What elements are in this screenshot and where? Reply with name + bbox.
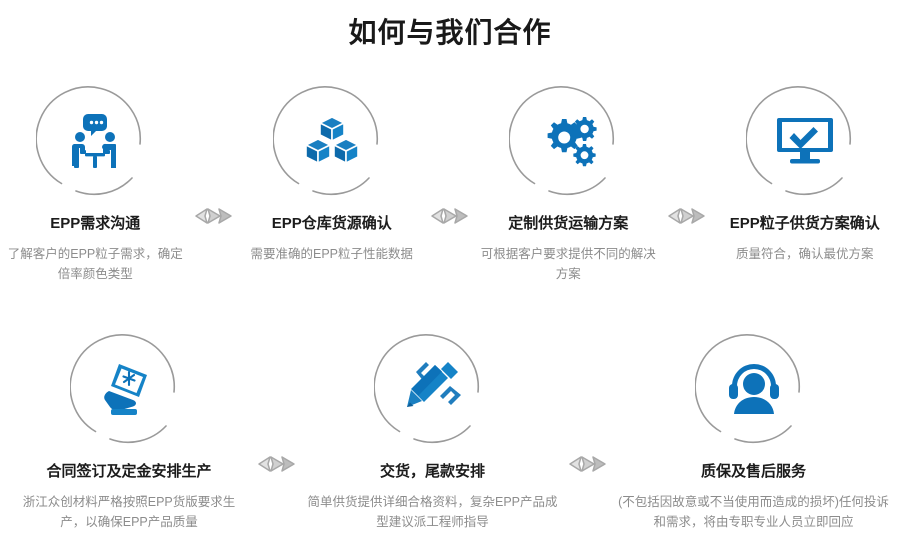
step-ring-7 [695,330,813,448]
headset-support-icon [723,358,785,420]
page-title: 如何与我们合作 [0,16,900,50]
steps-row-1: EPP需求沟通 了解客户的EPP粒子需求，确定倍率颜色类型 [0,82,900,284]
step-title: 合同签订及定金安排生产 [46,462,211,482]
step-ring-5 [70,330,188,448]
step-ring-1 [36,82,154,200]
step-description: 简单供货提供详细合格资料，复杂EPP产品成型建议派工程师指导 [308,492,558,532]
step-card-1[interactable]: EPP需求沟通 了解客户的EPP粒子需求，确定倍率颜色类型 [0,82,191,284]
step-description: 了解客户的EPP粒子需求，确定倍率颜色类型 [5,244,185,284]
meeting-discussion-icon [64,110,126,172]
stacked-boxes-icon [301,110,363,172]
step-card-3[interactable]: 定制供货运输方案 可根据客户要求提供不同的解决方案 [473,82,664,284]
step-description: 质量符合，确认最优方案 [710,244,900,264]
pen-ruler-icon [402,358,464,420]
step-card-2[interactable]: EPP仓库货源确认 需要准确的EPP粒子性能数据 [237,82,428,264]
step-ring-3 [509,82,627,200]
next-step-arrow [427,82,473,216]
step-card-5[interactable]: 合同签订及定金安排生产 浙江众创材料严格按照EPP货版要求生产，以确保EPP产品… [4,330,254,532]
step-ring-6 [374,330,492,448]
step-title: 定制供货运输方案 [508,214,628,234]
step-ring-2 [273,82,391,200]
step-description: (不包括因故意或不当使用而造成的损坏)任何投诉和需求，将由专职专业人员立即回应 [615,492,893,532]
step-ring-4 [746,82,864,200]
step-title: 质保及售后服务 [701,462,806,482]
step-description: 需要准确的EPP粒子性能数据 [237,244,427,264]
step-card-6[interactable]: 交货，尾款安排 简单供货提供详细合格资料，复杂EPP产品成型建议派工程师指导 [300,330,565,532]
next-step-arrow [191,82,237,216]
step-title: EPP仓库货源确认 [272,214,392,234]
next-step-arrow [565,330,611,464]
contract-signing-icon [98,358,160,420]
next-step-arrow [664,82,710,216]
step-card-4[interactable]: EPP粒子供货方案确认 质量符合，确认最优方案 [710,82,900,264]
step-title: EPP粒子供货方案确认 [730,214,880,234]
next-step-arrow [254,330,300,464]
step-description: 可根据客户要求提供不同的解决方案 [476,244,661,284]
gears-icon [537,110,599,172]
step-card-7[interactable]: 质保及售后服务 (不包括因故意或不当使用而造成的损坏)任何投诉和需求，将由专职专… [611,330,896,532]
step-title: 交货，尾款安排 [380,462,485,482]
step-title: EPP需求沟通 [50,214,140,234]
step-description: 浙江众创材料严格按照EPP货版要求生产，以确保EPP产品质量 [12,492,247,532]
how-we-cooperate-page: 如何与我们合作 [0,0,900,538]
steps-row-2: 合同签订及定金安排生产 浙江众创材料严格按照EPP货版要求生产，以确保EPP产品… [0,330,900,532]
monitor-check-icon [774,110,836,172]
